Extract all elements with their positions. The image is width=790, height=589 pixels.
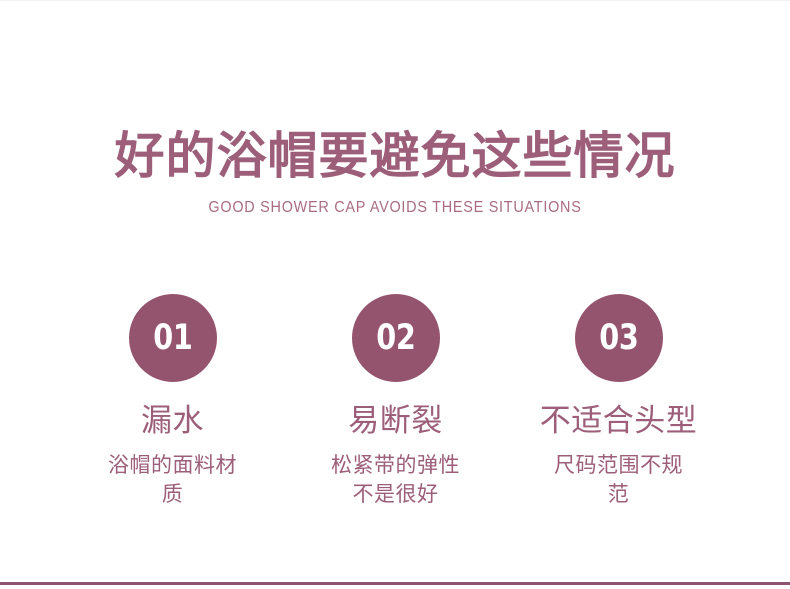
feature-description-03: 尺码范围不规范 [550, 451, 688, 509]
number-badge-03: 03 [575, 294, 663, 382]
feature-item-01: 01 漏水 浴帽的面料材质 [61, 294, 284, 509]
promo-banner: 好的浴帽要避免这些情况 GOOD SHOWER CAP AVOIDS THESE… [0, 0, 790, 589]
number-badge-02: 02 [352, 294, 440, 382]
badge-number-label: 01 [153, 321, 192, 356]
feature-title-01: 漏水 [141, 403, 204, 439]
badge-number-label: 02 [376, 321, 415, 356]
feature-title-03: 不适合头型 [540, 403, 698, 439]
feature-columns: 01 漏水 浴帽的面料材质 02 易断裂 松紧带的弹性不是很好 03 不适合头型… [0, 294, 790, 509]
feature-description-01: 浴帽的面料材质 [98, 451, 248, 509]
feature-title-02: 易断裂 [348, 403, 443, 439]
page-subtitle: GOOD SHOWER CAP AVOIDS THESE SITUATIONS [28, 198, 763, 218]
bottom-divider [0, 582, 790, 585]
feature-description-02: 松紧带的弹性不是很好 [321, 451, 471, 509]
number-badge-01: 01 [129, 294, 217, 382]
page-title: 好的浴帽要避免这些情况 [0, 126, 790, 186]
feature-item-02: 02 易断裂 松紧带的弹性不是很好 [284, 294, 507, 509]
feature-item-03: 03 不适合头型 尺码范围不规范 [507, 294, 730, 509]
badge-number-label: 03 [599, 321, 638, 356]
header: 好的浴帽要避免这些情况 GOOD SHOWER CAP AVOIDS THESE… [0, 126, 790, 218]
top-divider [0, 0, 790, 1]
